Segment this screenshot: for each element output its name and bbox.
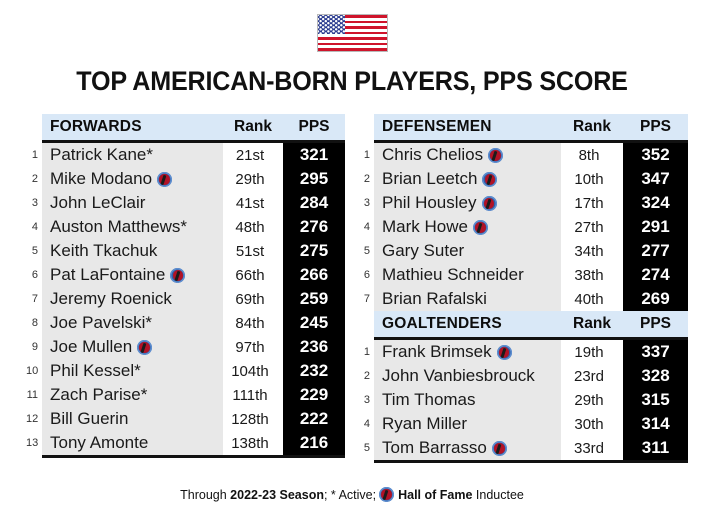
- player-rank: 84th: [223, 311, 283, 335]
- player-rank: 41st: [223, 191, 283, 215]
- player-pps: 275: [283, 239, 345, 263]
- player-rank: 40th: [561, 287, 623, 311]
- flag-canton: [318, 15, 346, 34]
- page-title: TOP AMERICAN-BORN PLAYERS, PPS SCORE: [25, 66, 680, 97]
- player-name-cell: Keith Tkachuk: [42, 239, 223, 263]
- player-rank: 97th: [223, 335, 283, 359]
- player-name: Brian Leetch: [382, 169, 477, 188]
- row-number: 13: [26, 431, 42, 455]
- row-number: 4: [358, 215, 374, 239]
- table-row: 6Pat LaFontaine66th266: [26, 263, 345, 287]
- player-name: Bill Guerin: [50, 409, 128, 428]
- rule-spacer: [26, 455, 42, 458]
- table-row: 6Mathieu Schneider38th274: [358, 263, 688, 287]
- footnote: Through 2022-23 Season; * Active;Hall of…: [0, 487, 704, 502]
- section-title-defensemen: DEFENSEMEN: [374, 114, 561, 140]
- player-name-cell: John Vanbiesbrouck: [374, 364, 561, 388]
- player-name-cell: Gary Suter: [374, 239, 561, 263]
- player-name: Phil Housley: [382, 193, 477, 212]
- player-pps: 347: [623, 167, 688, 191]
- player-name: Chris Chelios: [382, 145, 483, 164]
- player-pps: 216: [283, 431, 345, 455]
- hockey-hall-of-fame-icon: [482, 172, 497, 187]
- column-header-pps: PPS: [623, 311, 688, 337]
- hockey-hall-of-fame-icon: [157, 172, 172, 187]
- player-name: Tim Thomas: [382, 390, 476, 409]
- player-pps: 245: [283, 311, 345, 335]
- defensemen-goaltenders-table: DEFENSEMENRankPPS1Chris Chelios8th3522Br…: [358, 114, 688, 463]
- section-header-goaltenders: GOALTENDERSRankPPS: [358, 311, 688, 337]
- table-row: 8Joe Pavelski*84th245: [26, 311, 345, 335]
- row-number: 7: [358, 287, 374, 311]
- player-pps: 311: [623, 436, 688, 460]
- row-number: 3: [358, 388, 374, 412]
- player-pps: 222: [283, 407, 345, 431]
- player-rank: 30th: [561, 412, 623, 436]
- row-number: 3: [358, 191, 374, 215]
- footnote-season: 2022-23 Season: [230, 488, 324, 502]
- row-number: 6: [358, 263, 374, 287]
- player-pps: 324: [623, 191, 688, 215]
- player-pps: 229: [283, 383, 345, 407]
- player-rank: 128th: [223, 407, 283, 431]
- player-name-cell: Frank Brimsek: [374, 340, 561, 364]
- row-number: 2: [26, 167, 42, 191]
- united-states-flag-icon: [317, 14, 388, 52]
- row-number: 5: [358, 436, 374, 460]
- player-pps: 314: [623, 412, 688, 436]
- player-name: Mark Howe: [382, 217, 468, 236]
- column-header-rank: Rank: [561, 114, 623, 140]
- player-name-cell: Zach Parise*: [42, 383, 223, 407]
- player-pps: 277: [623, 239, 688, 263]
- right-grid: DEFENSEMENRankPPS1Chris Chelios8th3522Br…: [358, 114, 688, 463]
- table-row: 2Mike Modano29th295: [26, 167, 345, 191]
- table-row: 1Patrick Kane*21st321: [26, 143, 345, 167]
- player-rank: 33rd: [561, 436, 623, 460]
- player-name: Frank Brimsek: [382, 342, 492, 361]
- row-number: 1: [358, 143, 374, 167]
- player-rank: 138th: [223, 431, 283, 455]
- player-name: Keith Tkachuk: [50, 241, 157, 260]
- player-pps: 337: [623, 340, 688, 364]
- player-name: Ryan Miller: [382, 414, 467, 433]
- player-pps: 295: [283, 167, 345, 191]
- table-row: 4Auston Matthews*48th276: [26, 215, 345, 239]
- row-number: 11: [26, 383, 42, 407]
- table-row: 9Joe Mullen97th236: [26, 335, 345, 359]
- table-row: 7Brian Rafalski40th269: [358, 287, 688, 311]
- table-row: 5Tom Barrasso33rd311: [358, 436, 688, 460]
- row-number: 6: [26, 263, 42, 287]
- player-name-cell: John LeClair: [42, 191, 223, 215]
- player-name-cell: Jeremy Roenick: [42, 287, 223, 311]
- hockey-hall-of-fame-icon: [379, 487, 394, 502]
- hockey-hall-of-fame-icon: [497, 345, 512, 360]
- forwards-bottom-rule: [26, 455, 345, 458]
- flag-container: [0, 14, 704, 52]
- row-number: 5: [358, 239, 374, 263]
- player-name-cell: Mike Modano: [42, 167, 223, 191]
- table-row: 12Bill Guerin128th222: [26, 407, 345, 431]
- player-rank: 66th: [223, 263, 283, 287]
- player-name: Phil Kessel*: [50, 361, 141, 380]
- player-pps: 259: [283, 287, 345, 311]
- player-rank: 19th: [561, 340, 623, 364]
- table-row: 4Ryan Miller30th314: [358, 412, 688, 436]
- player-pps: 269: [623, 287, 688, 311]
- player-name-cell: Tim Thomas: [374, 388, 561, 412]
- player-rank: 48th: [223, 215, 283, 239]
- row-number: 1: [26, 143, 42, 167]
- player-rank: 34th: [561, 239, 623, 263]
- player-name: Auston Matthews*: [50, 217, 187, 236]
- table-row: 13Tony Amonte138th216: [26, 431, 345, 455]
- player-rank: 27th: [561, 215, 623, 239]
- player-rank: 21st: [223, 143, 283, 167]
- table-row: 4Mark Howe27th291: [358, 215, 688, 239]
- row-number: 1: [358, 340, 374, 364]
- column-header-pps: PPS: [623, 114, 688, 140]
- player-name: Pat LaFontaine: [50, 265, 165, 284]
- hockey-hall-of-fame-icon: [492, 441, 507, 456]
- player-pps: 266: [283, 263, 345, 287]
- player-rank: 23rd: [561, 364, 623, 388]
- row-number: 4: [358, 412, 374, 436]
- column-header-rank: Rank: [561, 311, 623, 337]
- player-name: Joe Pavelski*: [50, 313, 152, 332]
- table-row: 5Keith Tkachuk51st275: [26, 239, 345, 263]
- player-rank: 111th: [223, 383, 283, 407]
- forwards-table: FORWARDSRankPPS1Patrick Kane*21st3212Mik…: [26, 114, 345, 458]
- section-title-goaltenders: GOALTENDERS: [374, 311, 561, 337]
- section-header-defensemen: DEFENSEMENRankPPS: [358, 114, 688, 140]
- player-name: John Vanbiesbrouck: [382, 366, 535, 385]
- table-row: 7Jeremy Roenick69th259: [26, 287, 345, 311]
- table-row: 10Phil Kessel*104th232: [26, 359, 345, 383]
- footnote-prefix: Through: [180, 488, 230, 502]
- rule-spacer: [358, 460, 374, 463]
- player-pps: 315: [623, 388, 688, 412]
- player-name-cell: Brian Leetch: [374, 167, 561, 191]
- player-pps: 284: [283, 191, 345, 215]
- table-row: 2Brian Leetch10th347: [358, 167, 688, 191]
- player-rank: 104th: [223, 359, 283, 383]
- player-name: Jeremy Roenick: [50, 289, 172, 308]
- row-number: 9: [26, 335, 42, 359]
- column-header-rank: Rank: [223, 114, 283, 140]
- player-name-cell: Tom Barrasso: [374, 436, 561, 460]
- section-header-forwards: FORWARDSRankPPS: [26, 114, 345, 140]
- player-rank: 38th: [561, 263, 623, 287]
- player-rank: 69th: [223, 287, 283, 311]
- player-name-cell: Joe Mullen: [42, 335, 223, 359]
- row-number: 3: [26, 191, 42, 215]
- player-rank: 10th: [561, 167, 623, 191]
- row-number: 2: [358, 167, 374, 191]
- hockey-hall-of-fame-icon: [137, 340, 152, 355]
- player-rank: 29th: [561, 388, 623, 412]
- player-pps: 291: [623, 215, 688, 239]
- player-name: John LeClair: [50, 193, 145, 212]
- table-row: 3Tim Thomas29th315: [358, 388, 688, 412]
- column-header-pps: PPS: [283, 114, 345, 140]
- rule-bar: [42, 455, 345, 458]
- goaltenders-bottom-rule: [358, 460, 688, 463]
- player-name: Mathieu Schneider: [382, 265, 524, 284]
- table-row: 3Phil Housley17th324: [358, 191, 688, 215]
- table-row: 1Frank Brimsek19th337: [358, 340, 688, 364]
- player-name-cell: Mark Howe: [374, 215, 561, 239]
- right-body: DEFENSEMENRankPPS1Chris Chelios8th3522Br…: [358, 114, 688, 463]
- table-row: 1Chris Chelios8th352: [358, 143, 688, 167]
- header-spacer: [358, 114, 374, 140]
- player-name-cell: Patrick Kane*: [42, 143, 223, 167]
- hockey-hall-of-fame-icon: [488, 148, 503, 163]
- table-row: 2John Vanbiesbrouck23rd328: [358, 364, 688, 388]
- row-number: 7: [26, 287, 42, 311]
- player-name: Tom Barrasso: [382, 438, 487, 457]
- player-rank: 29th: [223, 167, 283, 191]
- footnote-hof-label: Hall of Fame: [398, 488, 472, 502]
- player-rank: 17th: [561, 191, 623, 215]
- player-name-cell: Chris Chelios: [374, 143, 561, 167]
- row-number: 2: [358, 364, 374, 388]
- player-pps: 352: [623, 143, 688, 167]
- player-name-cell: Auston Matthews*: [42, 215, 223, 239]
- hockey-hall-of-fame-icon: [170, 268, 185, 283]
- player-rank: 8th: [561, 143, 623, 167]
- row-number: 5: [26, 239, 42, 263]
- row-number: 8: [26, 311, 42, 335]
- footnote-suffix: Inductee: [472, 488, 523, 502]
- player-name-cell: Tony Amonte: [42, 431, 223, 455]
- player-pps: 321: [283, 143, 345, 167]
- player-name: Patrick Kane*: [50, 145, 153, 164]
- section-title-forwards: FORWARDS: [42, 114, 223, 140]
- player-name: Gary Suter: [382, 241, 464, 260]
- forwards-grid: FORWARDSRankPPS1Patrick Kane*21st3212Mik…: [26, 114, 345, 458]
- row-number: 12: [26, 407, 42, 431]
- player-pps: 276: [283, 215, 345, 239]
- player-pps: 328: [623, 364, 688, 388]
- table-row: 11Zach Parise*111th229: [26, 383, 345, 407]
- forwards-body: FORWARDSRankPPS1Patrick Kane*21st3212Mik…: [26, 114, 345, 458]
- player-name: Mike Modano: [50, 169, 152, 188]
- hockey-hall-of-fame-icon: [482, 196, 497, 211]
- table-row: 5Gary Suter34th277: [358, 239, 688, 263]
- player-name: Zach Parise*: [50, 385, 147, 404]
- player-name-cell: Phil Kessel*: [42, 359, 223, 383]
- player-name-cell: Mathieu Schneider: [374, 263, 561, 287]
- footnote-mid: ; * Active;: [324, 488, 376, 502]
- player-rank: 51st: [223, 239, 283, 263]
- hockey-hall-of-fame-icon: [473, 220, 488, 235]
- player-name: Tony Amonte: [50, 433, 148, 452]
- row-number: 10: [26, 359, 42, 383]
- header-spacer: [358, 311, 374, 337]
- player-name-cell: Ryan Miller: [374, 412, 561, 436]
- player-name-cell: Bill Guerin: [42, 407, 223, 431]
- header-spacer: [26, 114, 42, 140]
- player-pps: 274: [623, 263, 688, 287]
- player-name: Brian Rafalski: [382, 289, 487, 308]
- player-name-cell: Brian Rafalski: [374, 287, 561, 311]
- player-pps: 236: [283, 335, 345, 359]
- row-number: 4: [26, 215, 42, 239]
- rule-bar: [374, 460, 688, 463]
- player-name-cell: Pat LaFontaine: [42, 263, 223, 287]
- player-name-cell: Phil Housley: [374, 191, 561, 215]
- player-name: Joe Mullen: [50, 337, 132, 356]
- player-name-cell: Joe Pavelski*: [42, 311, 223, 335]
- player-pps: 232: [283, 359, 345, 383]
- table-row: 3John LeClair41st284: [26, 191, 345, 215]
